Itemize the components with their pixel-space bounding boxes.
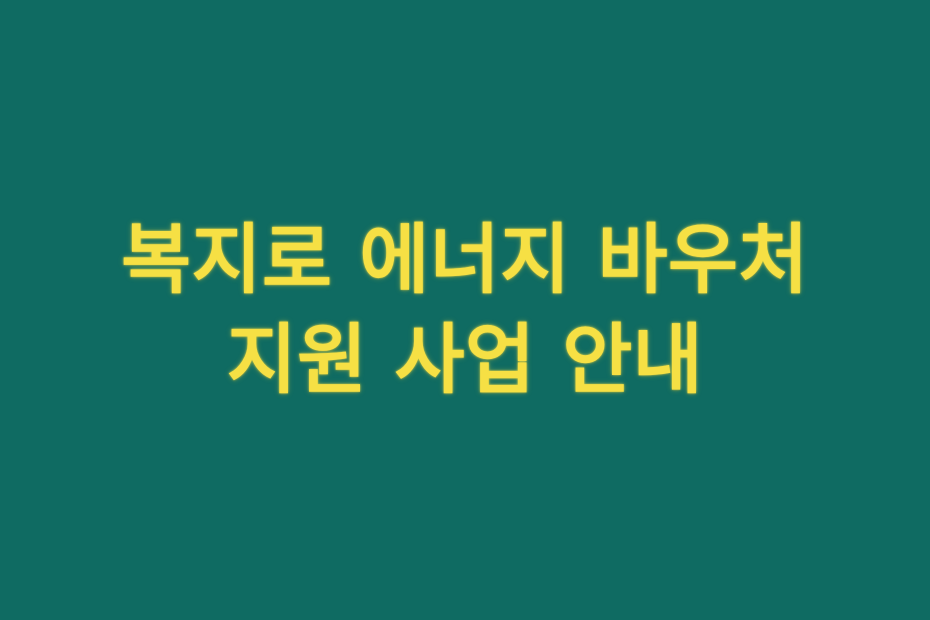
page-title: 복지로 에너지 바우처 지원 사업 안내 <box>65 210 865 411</box>
banner-card: 복지로 에너지 바우처 지원 사업 안내 <box>0 0 930 620</box>
